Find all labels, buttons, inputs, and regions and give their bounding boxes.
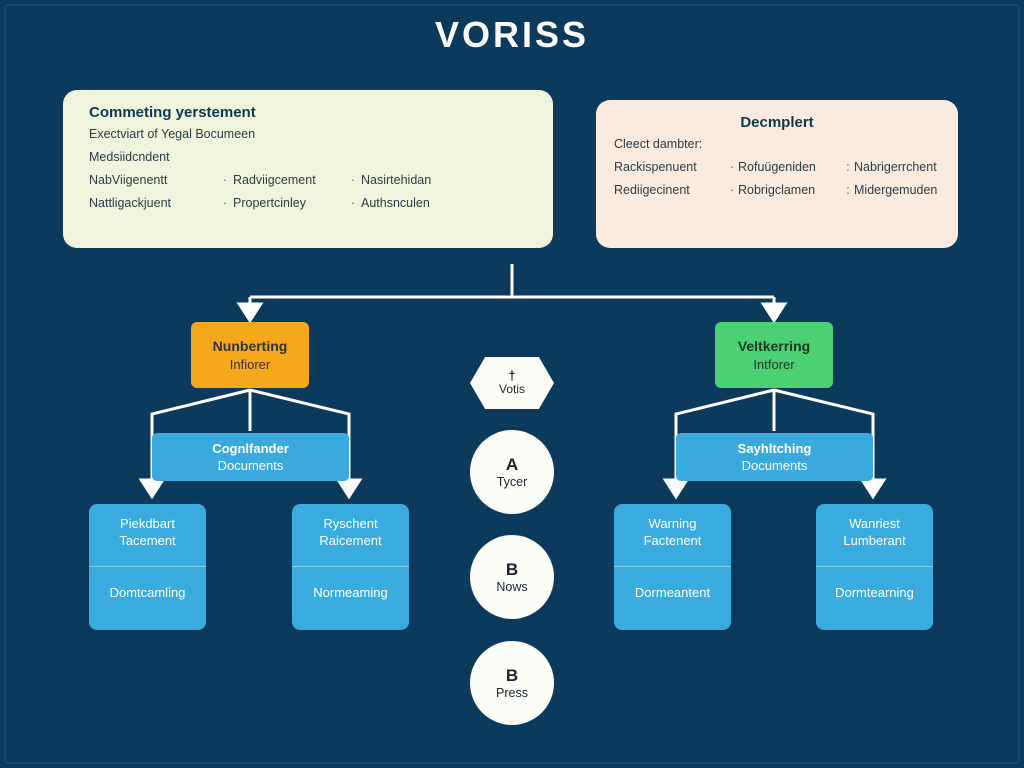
leaf-title: Ryschent <box>323 517 377 532</box>
document-node-right[interactable]: Sayhltching Documents <box>676 433 873 481</box>
document-node-right-subtitle: Documents <box>742 458 808 473</box>
leaf-footer: Domtcamling <box>110 585 186 600</box>
leaf-divider <box>292 566 409 567</box>
center-circle-node[interactable]: A Tycer <box>470 430 554 514</box>
center-circle-label: Press <box>496 687 528 700</box>
leaf-subtitle: Lumberant <box>843 534 905 549</box>
leaf-divider <box>614 566 731 567</box>
document-node-left[interactable]: Cognlfander Documents <box>152 433 349 481</box>
branch-node-left[interactable]: Nunberting Infiorer <box>191 322 309 388</box>
leaf-subtitle: Raicement <box>319 534 381 549</box>
leaf-divider <box>816 566 933 567</box>
branch-node-right[interactable]: Veltkerring Intforer <box>715 322 833 388</box>
center-circle-key: B <box>506 667 518 684</box>
document-node-left-title: Cognlfander <box>212 441 289 456</box>
leaf-title: Piekdbart <box>120 517 175 532</box>
dagger-icon: † <box>508 369 515 382</box>
leaf-divider <box>89 566 206 567</box>
leaf-title: Warning <box>649 517 697 532</box>
center-circle-node[interactable]: B Nows <box>470 535 554 619</box>
leaf-title: Wanriest <box>849 517 900 532</box>
leaf-footer: Normeaming <box>313 585 387 600</box>
diagram-canvas: VORISS Commeting yerstement Exectviart o… <box>0 0 1024 768</box>
branch-node-right-subtitle: Intforer <box>753 357 794 372</box>
branch-node-right-title: Veltkerring <box>738 338 810 354</box>
leaf-subtitle: Tacement <box>119 534 175 549</box>
leaf-card[interactable]: Warning Factenent Dormeantent <box>614 504 731 630</box>
leaf-card[interactable]: Ryschent Raicement Normeaming <box>292 504 409 630</box>
leaf-card[interactable]: Piekdbart Tacement Domtcamling <box>89 504 206 630</box>
center-circle-key: A <box>506 456 518 473</box>
center-hexagon-node[interactable]: † Votis <box>470 357 554 409</box>
leaf-card[interactable]: Wanriest Lumberant Dormtearning <box>816 504 933 630</box>
center-hexagon-label: Votis <box>499 383 525 396</box>
branch-node-left-subtitle: Infiorer <box>230 357 270 372</box>
branch-node-left-title: Nunberting <box>213 338 288 354</box>
leaf-footer: Dormtearning <box>835 585 914 600</box>
center-circle-key: B <box>506 561 518 578</box>
center-circle-label: Tycer <box>497 476 528 489</box>
document-node-left-subtitle: Documents <box>218 458 284 473</box>
leaf-subtitle: Factenent <box>644 534 702 549</box>
center-circle-label: Nows <box>496 581 527 594</box>
leaf-footer: Dormeantent <box>635 585 710 600</box>
document-node-right-title: Sayhltching <box>738 441 812 456</box>
center-circle-node[interactable]: B Press <box>470 641 554 725</box>
